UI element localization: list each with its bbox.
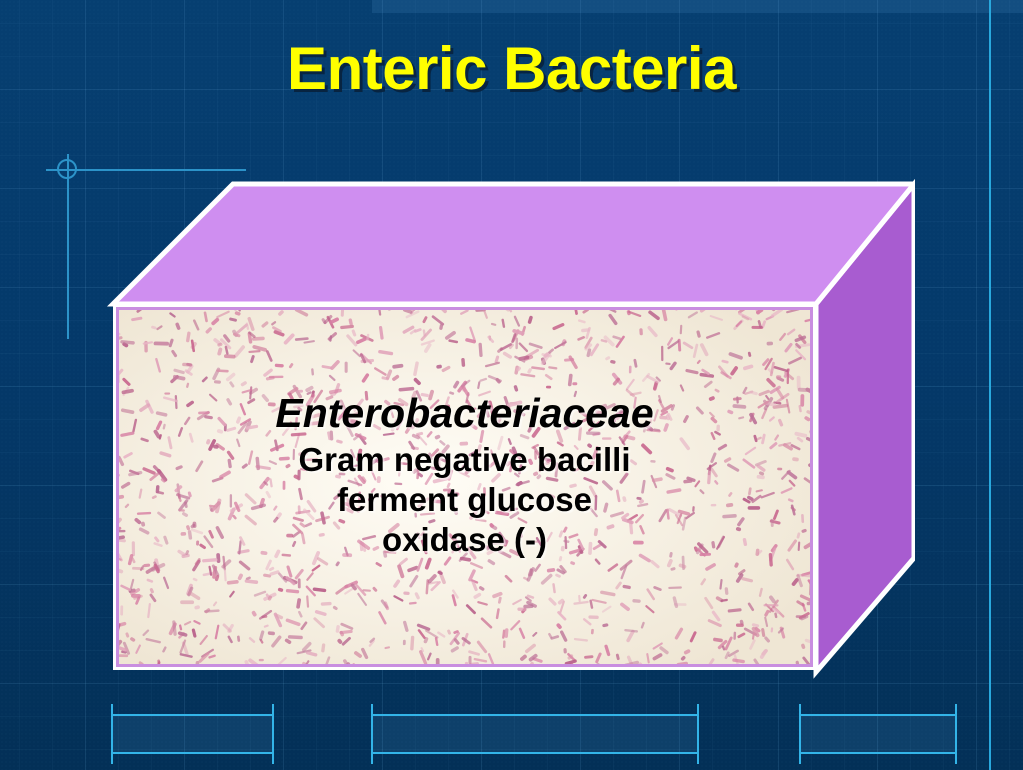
page-title: Enteric Bacteria	[0, 34, 1023, 103]
box-front-face: Enterobacteriaceae Gram negative bacilli…	[113, 304, 816, 670]
caption-line-1: Gram negative bacilli	[299, 440, 631, 480]
caption-line-2: ferment glucose	[337, 480, 592, 520]
caption-line-3: oxidase (-)	[382, 520, 547, 560]
box-caption-block: Enterobacteriaceae Gram negative bacilli…	[119, 310, 810, 664]
3d-box-diagram: Enterobacteriaceae Gram negative bacilli…	[105, 178, 915, 683]
blueprint-frame-center	[372, 714, 698, 754]
crosshair-circle-icon	[57, 159, 77, 179]
blueprint-frame-right	[800, 714, 956, 754]
slide-canvas: Enteric Bacteria	[0, 0, 1023, 770]
blueprint-frame-left	[112, 714, 273, 754]
species-name: Enterobacteriaceae	[275, 391, 653, 435]
crosshair-vertical-line	[67, 154, 69, 339]
box-front-inner-border: Enterobacteriaceae Gram negative bacilli…	[116, 307, 813, 667]
right-vertical-rule	[989, 0, 991, 770]
top-highlight-band	[372, 0, 1023, 13]
